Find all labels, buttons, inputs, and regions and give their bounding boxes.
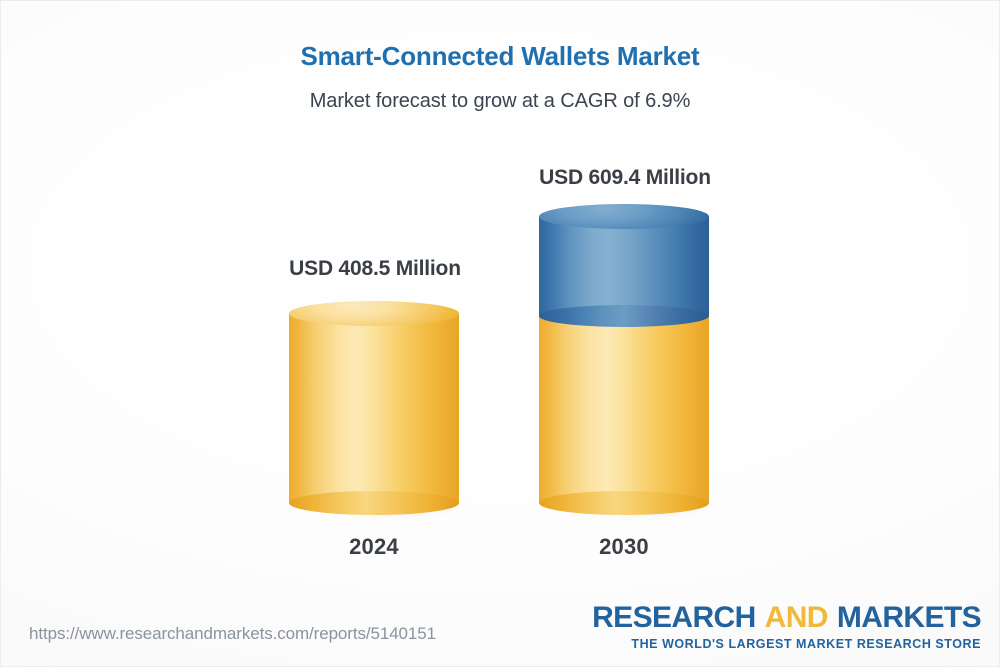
bar-segment-growth-2030 (539, 216, 709, 316)
bar-segment-base-surface-2030 (539, 316, 709, 503)
bar-segment-base-surface-2024 (289, 313, 459, 503)
chart-title: Smart-Connected Wallets Market (1, 41, 999, 72)
bar-top-cap-2030 (539, 204, 709, 229)
brand-word-research: RESEARCH (592, 601, 756, 634)
bar-bottom-cap-2030 (539, 491, 709, 515)
category-label-2024: 2024 (289, 534, 459, 560)
bar-segment-base-2024 (289, 313, 459, 503)
chart-canvas: Smart-Connected Wallets Market Market fo… (0, 0, 1000, 667)
value-label-2024: USD 408.5 Million (289, 257, 461, 281)
brand-tagline: THE WORLD'S LARGEST MARKET RESEARCH STOR… (592, 638, 981, 651)
brand-word-markets: MARKETS (837, 601, 981, 634)
bar-bottom-cap-2024 (289, 491, 459, 515)
bar-2024[interactable] (289, 301, 459, 513)
brand-wordmark: RESEARCHANDMARKETS (592, 603, 981, 633)
value-label-2030: USD 609.4 Million (539, 166, 711, 190)
chart-subtitle: Market forecast to grow at a CAGR of 6.9… (1, 90, 999, 113)
bar-segment-divider-2030 (539, 305, 709, 327)
source-url[interactable]: https://www.researchandmarkets.com/repor… (29, 624, 436, 644)
bar-2030[interactable] (539, 204, 709, 513)
brand-logo[interactable]: RESEARCHANDMARKETS THE WORLD'S LARGEST M… (592, 603, 981, 651)
bar-segment-base-2030 (539, 316, 709, 503)
category-label-2030: 2030 (539, 534, 709, 560)
brand-word-and: AND (765, 601, 828, 634)
bar-top-cap-2024 (289, 301, 459, 326)
bar-segment-growth-surface-2030 (539, 216, 709, 316)
